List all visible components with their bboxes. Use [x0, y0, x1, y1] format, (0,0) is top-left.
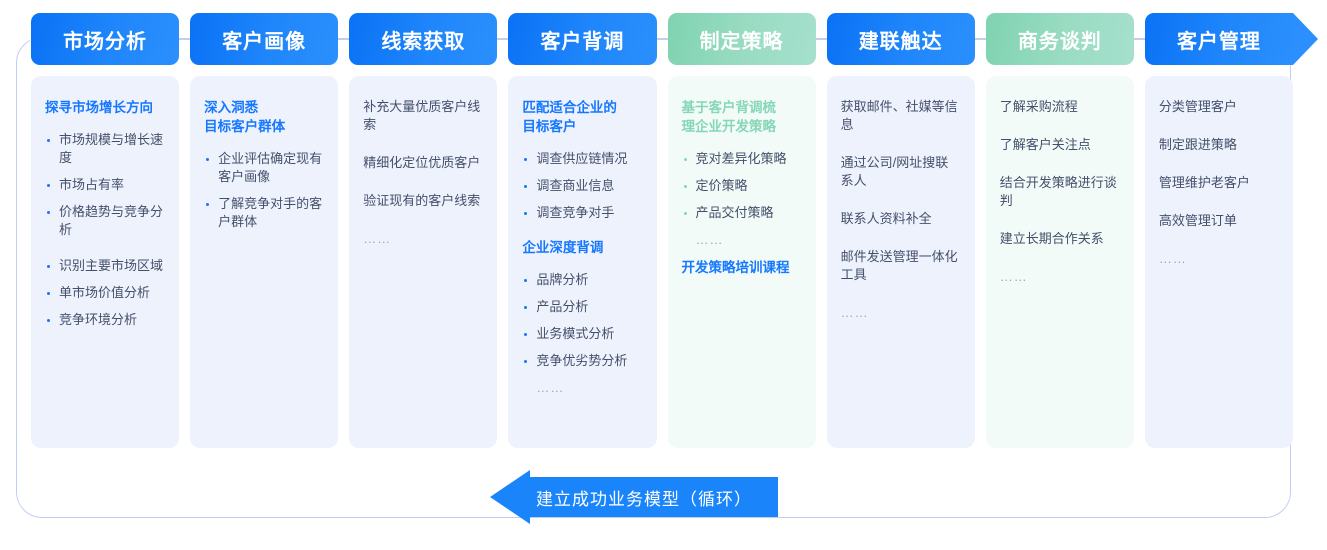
stage-tab-label: 线索获取 [381, 25, 465, 54]
content-column-customer-management: 分类管理客户 制定跟进策略 管理维护老客户 高效管理订单 …… [1145, 76, 1293, 448]
stage-tab-row: 市场分析 客户画像 线索获取 客户背调 制定策略 建联触达 商务谈判 客户管理 [31, 13, 1293, 65]
column-heading: 探寻市场增长方向 [45, 98, 165, 117]
list-item: 定价策略 [684, 177, 802, 195]
list-item: 调查竞争对手 [524, 204, 642, 222]
column-paragraph: 建立长期合作关系 [1000, 230, 1120, 248]
column-paragraph: 联系人资料补全 [841, 210, 961, 228]
column-paragraph: 验证现有的客户线索 [363, 192, 483, 210]
column-paragraph: 通过公司/网址搜联系人 [841, 154, 961, 190]
list-item: 竞争优劣势分析 [524, 352, 642, 370]
column-bullet-list-secondary: 品牌分析 产品分析 业务模式分析 竞争优劣势分析 …… [524, 271, 642, 397]
list-item: 品牌分析 [524, 271, 642, 289]
column-bullet-list: 调查供应链情况 调查商业信息 调查竞争对手 [524, 150, 642, 222]
list-item: 单市场价值分析 [47, 284, 165, 302]
column-bullet-list: 市场规模与增长速度 市场占有率 价格趋势与竞争分析 识别主要市场区域 单市场价值… [47, 131, 165, 329]
stage-tab-lead-acquisition[interactable]: 线索获取 [349, 13, 497, 65]
stage-tab-customer-management[interactable]: 客户管理 [1145, 13, 1293, 65]
stage-tab-market-analysis[interactable]: 市场分析 [31, 13, 179, 65]
column-ellipsis: …… [1000, 268, 1120, 286]
content-column-negotiation: 了解采购流程 了解客户关注点 结合开发策略进行谈判 建立长期合作关系 …… [986, 76, 1134, 448]
stage-tab-customer-profile[interactable]: 客户画像 [190, 13, 338, 65]
column-subheading: 开发策略培训课程 [682, 258, 802, 277]
arrow-right-icon [1293, 13, 1318, 65]
content-column-outreach: 获取邮件、社媒等信息 通过公司/网址搜联系人 联系人资料补全 邮件发送管理一体化… [827, 76, 975, 448]
content-column-customer-profile: 深入洞悉 目标客户群体 企业评估确定现有客户画像 了解竞争对手的客户群体 [190, 76, 338, 448]
list-item: 价格趋势与竞争分析 [47, 203, 165, 239]
stage-tab-label: 商务谈判 [1018, 25, 1102, 54]
list-item: 调查商业信息 [524, 177, 642, 195]
content-column-customer-background: 匹配适合企业的 目标客户 调查供应链情况 调查商业信息 调查竞争对手 企业深度背… [508, 76, 656, 448]
column-ellipsis: …… [1159, 250, 1279, 268]
flow-diagram: 市场分析 客户画像 线索获取 客户背调 制定策略 建联触达 商务谈判 客户管理 … [0, 0, 1327, 550]
list-item: 识别主要市场区域 [47, 257, 165, 275]
list-item: 产品分析 [524, 298, 642, 316]
column-paragraph: 了解采购流程 [1000, 98, 1120, 116]
stage-content-row: 探寻市场增长方向 市场规模与增长速度 市场占有率 价格趋势与竞争分析 识别主要市… [31, 76, 1293, 448]
content-column-lead-acquisition: 补充大量优质客户线索 精细化定位优质客户 验证现有的客户线索 …… [349, 76, 497, 448]
column-ellipsis: …… [684, 231, 802, 249]
list-item: 企业评估确定现有客户画像 [206, 150, 324, 186]
list-item: 竞争环境分析 [47, 311, 165, 329]
column-ellipsis: …… [841, 304, 961, 322]
stage-tab-label: 建联触达 [859, 25, 943, 54]
column-paragraph: 高效管理订单 [1159, 212, 1279, 230]
column-ellipsis: …… [524, 379, 642, 397]
column-bullet-list: 竞对差异化策略 定价策略 产品交付策略 …… [684, 150, 802, 249]
stage-tab-label: 制定策略 [700, 25, 784, 54]
list-item: 产品交付策略 [684, 204, 802, 222]
column-paragraph: 获取邮件、社媒等信息 [841, 98, 961, 134]
column-paragraph: 制定跟进策略 [1159, 136, 1279, 154]
stage-tab-negotiation[interactable]: 商务谈判 [986, 13, 1134, 65]
list-item: 业务模式分析 [524, 325, 642, 343]
column-bullet-list: 企业评估确定现有客户画像 了解竞争对手的客户群体 [206, 150, 324, 231]
column-paragraph: 了解客户关注点 [1000, 136, 1120, 154]
column-paragraph: 分类管理客户 [1159, 98, 1279, 116]
column-paragraph: 管理维护老客户 [1159, 174, 1279, 192]
stage-tab-label: 市场分析 [63, 25, 147, 54]
column-heading: 深入洞悉 目标客户群体 [204, 98, 324, 136]
cycle-banner-label: 建立成功业务模型（循环） [536, 485, 752, 510]
content-column-strategy-setting: 基于客户背调梳 理企业开发策略 竞对差异化策略 定价策略 产品交付策略 …… 开… [668, 76, 816, 448]
column-ellipsis: …… [363, 230, 483, 248]
stage-tab-label: 客户管理 [1177, 25, 1261, 54]
column-subheading: 企业深度背调 [522, 238, 642, 257]
stage-tab-label: 客户背调 [540, 25, 624, 54]
list-item: 了解竞争对手的客户群体 [206, 195, 324, 231]
column-paragraph: 结合开发策略进行谈判 [1000, 174, 1120, 210]
stage-tab-customer-background[interactable]: 客户背调 [508, 13, 656, 65]
stage-tab-outreach[interactable]: 建联触达 [827, 13, 975, 65]
column-paragraph: 邮件发送管理一体化工具 [841, 248, 961, 284]
cycle-banner-body: 建立成功业务模型（循环） [530, 477, 778, 517]
content-column-market-analysis: 探寻市场增长方向 市场规模与增长速度 市场占有率 价格趋势与竞争分析 识别主要市… [31, 76, 179, 448]
column-heading: 基于客户背调梳 理企业开发策略 [682, 98, 802, 136]
stage-tab-strategy-setting[interactable]: 制定策略 [668, 13, 816, 65]
stage-tab-label: 客户画像 [222, 25, 306, 54]
list-item: 竞对差异化策略 [684, 150, 802, 168]
cycle-banner: 建立成功业务模型（循环） [490, 470, 778, 524]
list-item: 市场占有率 [47, 176, 165, 194]
arrow-left-icon [490, 470, 530, 524]
list-item: 市场规模与增长速度 [47, 131, 165, 167]
column-paragraph: 精细化定位优质客户 [363, 154, 483, 172]
column-paragraph: 补充大量优质客户线索 [363, 98, 483, 134]
column-heading: 匹配适合企业的 目标客户 [522, 98, 642, 136]
list-item: 调查供应链情况 [524, 150, 642, 168]
